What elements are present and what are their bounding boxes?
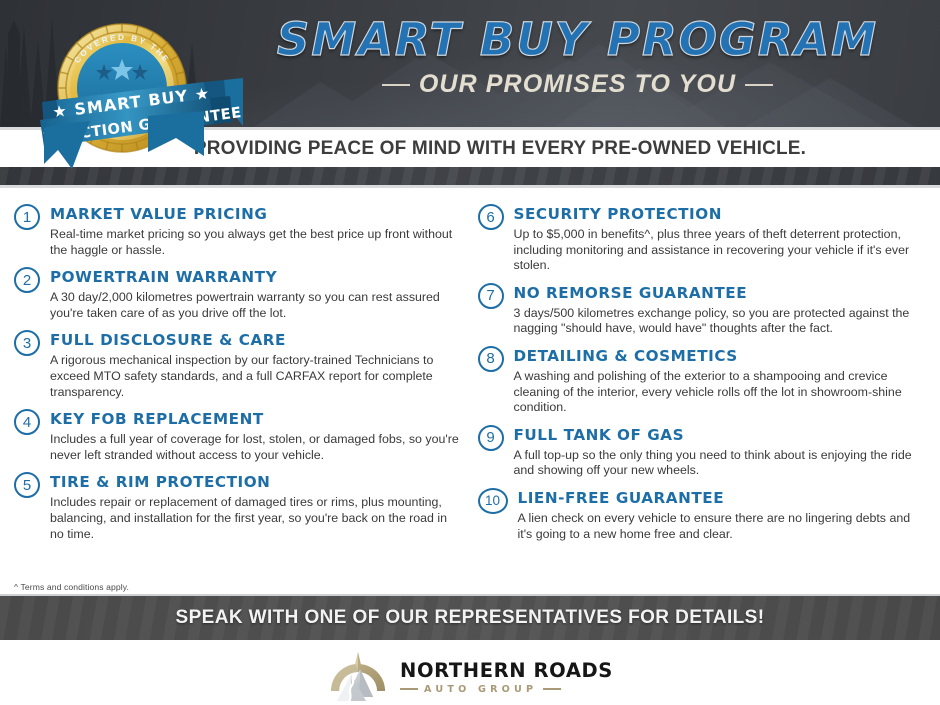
header-accent-strip	[0, 167, 940, 188]
promise-description: A 30 day/2,000 kilometres powertrain war…	[50, 290, 463, 321]
promise-number-badge: 6	[478, 204, 504, 230]
subtitle-rule-left	[382, 84, 410, 86]
logo-rule-right	[543, 688, 561, 690]
logo-name: NORTHERN ROADS	[400, 660, 613, 682]
promise-item: 10 LIEN-FREE GUARANTEE A lien check on e…	[478, 488, 927, 542]
promise-number-badge: 7	[478, 283, 504, 309]
promise-item: 9 FULL TANK OF GAS A full top-up so the …	[478, 425, 927, 479]
header-title-block: SMART BUY PROGRAM OUR PROMISES TO YOU	[215, 14, 940, 99]
promise-description: Includes a full year of coverage for los…	[50, 432, 463, 463]
cta-banner[interactable]: SPEAK WITH ONE OF OUR REPRESENTATIVES FO…	[0, 594, 940, 640]
promise-description: 3 days/500 kilometres exchange policy, s…	[514, 306, 927, 337]
logo-subtitle-row: AUTO GROUP	[400, 684, 613, 695]
header-subtitle-row: OUR PROMISES TO YOU	[215, 70, 940, 99]
promise-item: 7 NO REMORSE GUARANTEE 3 days/500 kilome…	[478, 283, 927, 337]
cta-text: SPEAK WITH ONE OF OUR REPRESENTATIVES FO…	[176, 607, 765, 629]
promise-number-badge: 9	[478, 425, 504, 451]
promise-title: DETAILING & COSMETICS	[514, 346, 927, 366]
smart-buy-program-page: SMART BUY PROGRAM OUR PROMISES TO YOU	[0, 0, 940, 705]
promise-description: Up to $5,000 in benefits^, plus three ye…	[514, 227, 927, 274]
promise-description: Includes repair or replacement of damage…	[50, 495, 463, 542]
promise-item: 4 KEY FOB REPLACEMENT Includes a full ye…	[14, 409, 463, 463]
page-title: SMART BUY PROGRAM	[215, 14, 940, 66]
promise-description: A lien check on every vehicle to ensure …	[518, 511, 927, 542]
terms-fine-print: ^ Terms and conditions apply.	[14, 582, 129, 592]
mountain-logo-icon	[327, 651, 389, 703]
promise-item: 5 TIRE & RIM PROTECTION Includes repair …	[14, 472, 463, 542]
promise-number-badge: 1	[14, 204, 40, 230]
promises-content: 1 MARKET VALUE PRICING Real-time market …	[0, 188, 940, 594]
promise-number-badge: 10	[478, 488, 508, 514]
promise-description: A full top-up so the only thing you need…	[514, 448, 927, 479]
page-subtitle: OUR PROMISES TO YOU	[419, 70, 736, 99]
promise-title: SECURITY PROTECTION	[514, 204, 927, 224]
promise-title: POWERTRAIN WARRANTY	[50, 267, 463, 287]
promise-item: 1 MARKET VALUE PRICING Real-time market …	[14, 204, 463, 258]
promise-title: TIRE & RIM PROTECTION	[50, 472, 463, 492]
promise-item: 2 POWERTRAIN WARRANTY A 30 day/2,000 kil…	[14, 267, 463, 321]
smart-buy-satisfaction-guarantee-badge: COVERED BY THE ★ SMART BUY ★ SATISFACTIO…	[28, 4, 243, 169]
promise-item: 3 FULL DISCLOSURE & CARE A rigorous mech…	[14, 330, 463, 400]
promise-title: FULL TANK OF GAS	[514, 425, 927, 445]
promise-title: LIEN-FREE GUARANTEE	[518, 488, 927, 508]
logo-rule-left	[400, 688, 418, 690]
promise-number-badge: 3	[14, 330, 40, 356]
promise-title: NO REMORSE GUARANTEE	[514, 283, 927, 303]
promise-number-badge: 8	[478, 346, 504, 372]
promise-banner-text: PROVIDING PEACE OF MIND WITH EVERY PRE-O…	[194, 138, 806, 160]
page-footer: NORTHERN ROADS AUTO GROUP © Copyright No…	[0, 640, 940, 705]
promise-title: KEY FOB REPLACEMENT	[50, 409, 463, 429]
promise-item: 6 SECURITY PROTECTION Up to $5,000 in be…	[478, 204, 927, 274]
promise-number-badge: 4	[14, 409, 40, 435]
promise-title: FULL DISCLOSURE & CARE	[50, 330, 463, 350]
promise-description: Real-time market pricing so you always g…	[50, 227, 463, 258]
promises-column-right: 6 SECURITY PROTECTION Up to $5,000 in be…	[478, 204, 927, 594]
logo-subtitle: AUTO GROUP	[424, 684, 537, 695]
promise-description: A washing and polishing of the exterior …	[514, 369, 927, 416]
subtitle-rule-right	[745, 84, 773, 86]
promise-number-badge: 2	[14, 267, 40, 293]
promise-title: MARKET VALUE PRICING	[50, 204, 463, 224]
northern-roads-logo: NORTHERN ROADS AUTO GROUP	[327, 651, 613, 703]
promise-item: 8 DETAILING & COSMETICS A washing and po…	[478, 346, 927, 416]
promise-number-badge: 5	[14, 472, 40, 498]
logo-wordmark: NORTHERN ROADS AUTO GROUP	[400, 660, 613, 695]
promises-column-left: 1 MARKET VALUE PRICING Real-time market …	[14, 204, 463, 594]
promise-description: A rigorous mechanical inspection by our …	[50, 353, 463, 400]
